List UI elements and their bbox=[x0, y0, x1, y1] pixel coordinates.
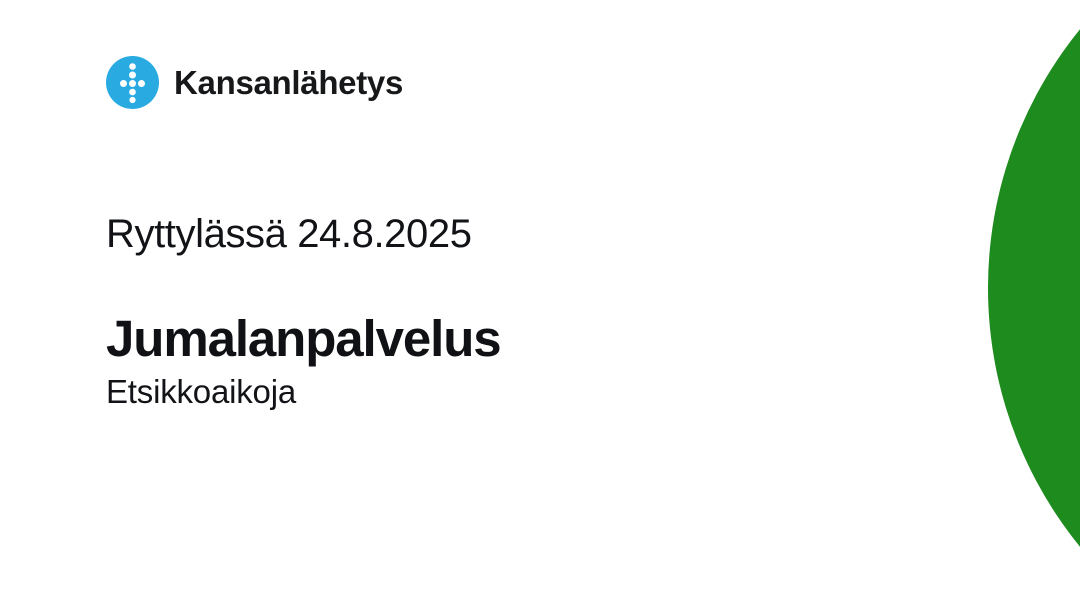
brand-name: Kansanlähetys bbox=[174, 66, 403, 99]
event-place-date: Ryttylässä 24.8.2025 bbox=[106, 212, 866, 257]
headline-block: Ryttylässä 24.8.2025 Jumalanpalvelus Ets… bbox=[106, 212, 866, 411]
brand-lockup: Kansanlähetys bbox=[106, 56, 403, 109]
page-title: Jumalanpalvelus bbox=[106, 311, 866, 366]
title-slide: Kansanlähetys Ryttylässä 24.8.2025 Jumal… bbox=[0, 0, 1080, 608]
slide-content: Kansanlähetys Ryttylässä 24.8.2025 Jumal… bbox=[0, 0, 1080, 608]
page-subtitle: Etsikkoaikoja bbox=[106, 374, 866, 411]
kansanlahetys-logo-icon bbox=[106, 56, 159, 109]
